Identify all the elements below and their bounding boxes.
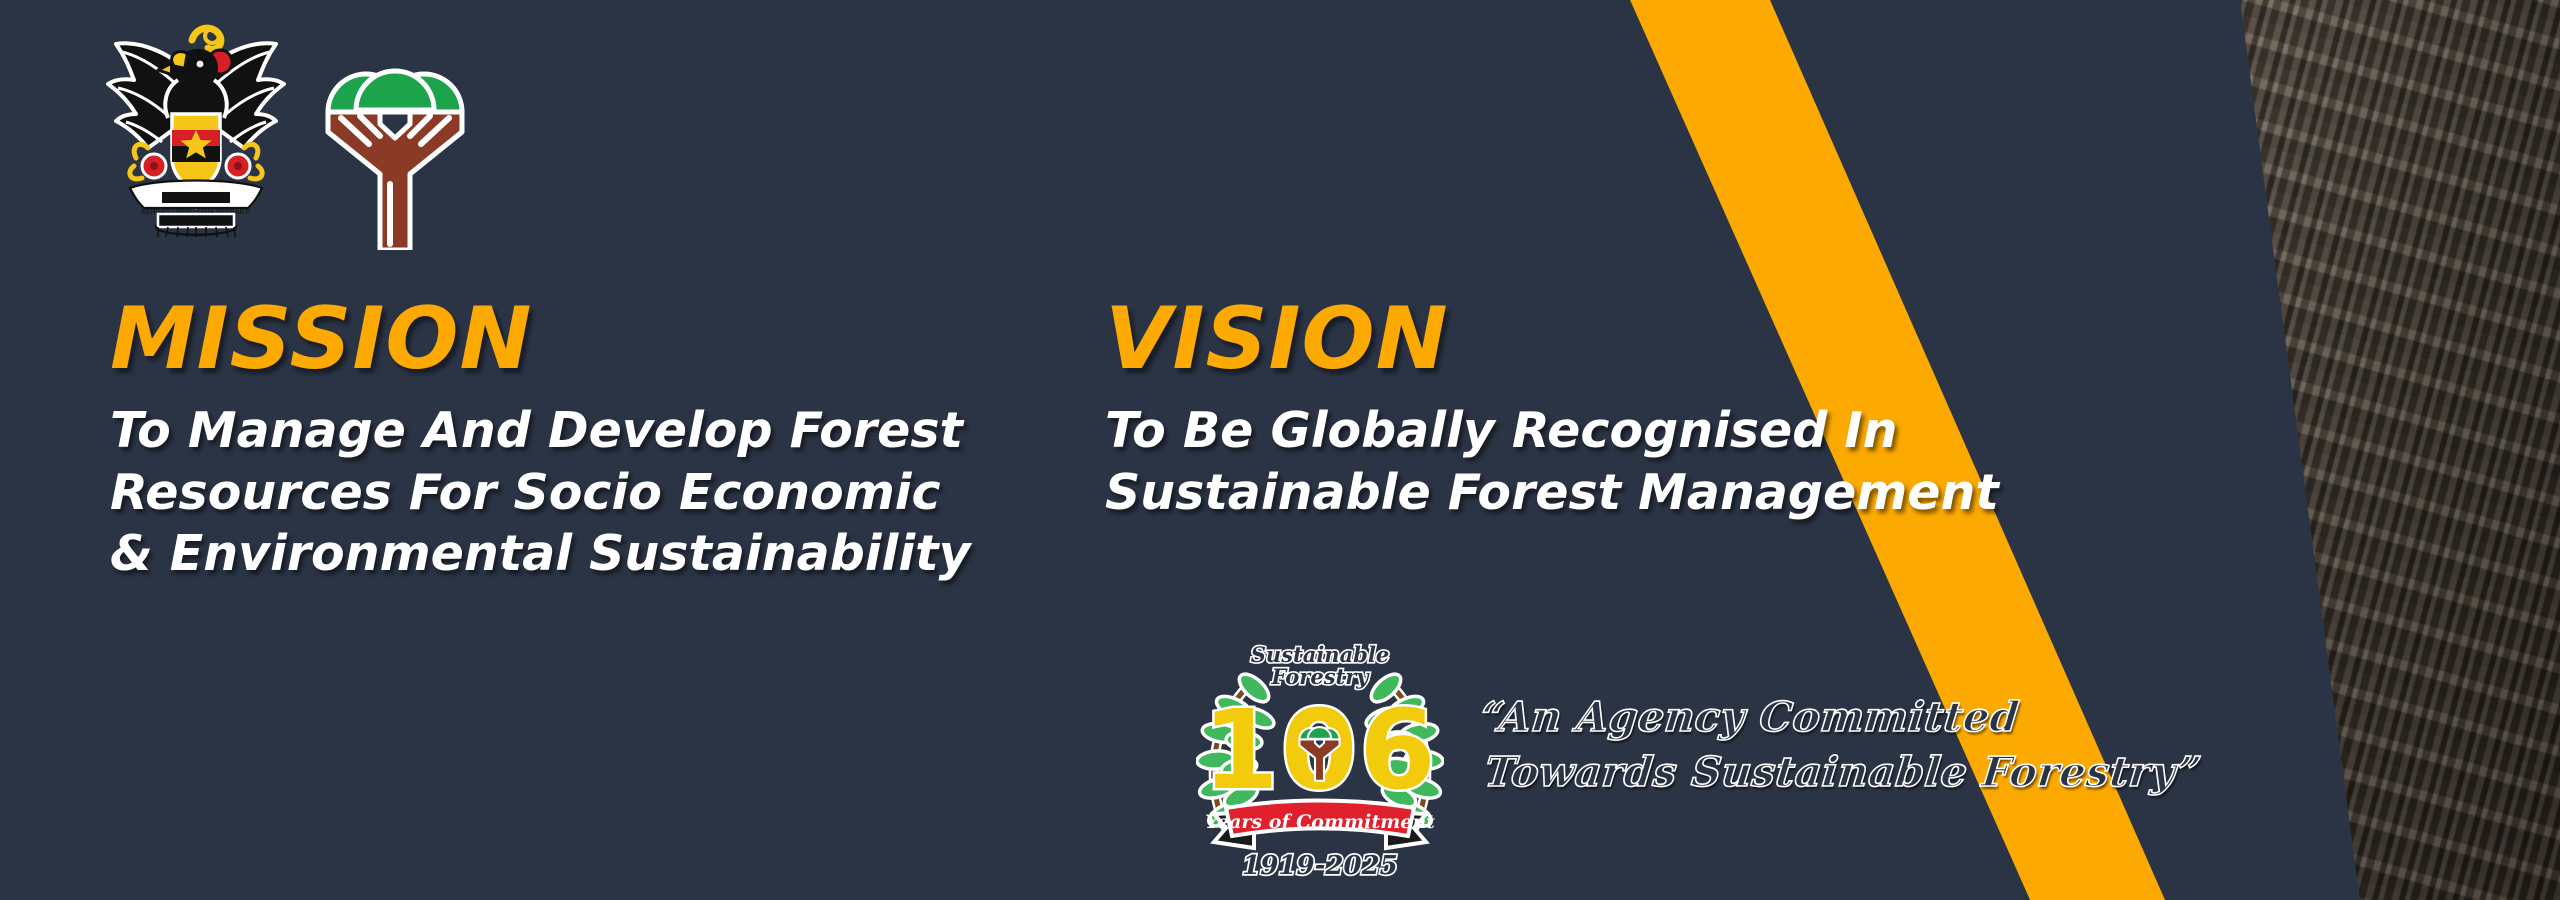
mission-line-1: To Manage And Develop Forest — [110, 400, 1010, 462]
anniversary-emblem: Sustainable Forestry 106 — [1196, 636, 1444, 888]
sarawak-coat-of-arms-icon: BERSATU BERUSAHA BERBAKTI — [96, 18, 296, 240]
vision-line-1: To Be Globally Recognised In — [1105, 400, 2105, 462]
mission-line-2: Resources For Socio Economic — [110, 462, 1010, 524]
emblem-years: 1919-2025 — [1242, 851, 1398, 881]
forest-department-tree-logo-icon — [320, 54, 470, 250]
mission-line-3: & Environmental Sustainability — [110, 523, 1010, 585]
emblem-ribbon-text: Years of Commitment — [1205, 811, 1435, 833]
mission-column: MISSION To Manage And Develop Forest Res… — [110, 296, 1010, 585]
tagline: “An Agency Committed Towards Sustainable… — [1472, 690, 2104, 800]
mission-heading: MISSION — [110, 296, 1010, 382]
logo-row: BERSATU BERUSAHA BERBAKTI — [96, 18, 470, 250]
vision-column: VISION To Be Globally Recognised In Sust… — [1105, 296, 2105, 523]
vision-heading: VISION — [1105, 296, 2105, 382]
mission-vision-banner: BERSATU BERUSAHA BERBAKTI — [0, 0, 2560, 900]
tagline-line-2: Towards Sustainable Forestry” — [1472, 745, 2098, 800]
tagline-line-1: “An Agency Committed — [1478, 690, 2104, 745]
banner-content: BERSATU BERUSAHA BERBAKTI — [0, 0, 2560, 900]
mission-body: To Manage And Develop Forest Resources F… — [110, 400, 1010, 585]
vision-body: To Be Globally Recognised In Sustainable… — [1105, 400, 2105, 523]
anniversary-emblem-icon: Sustainable Forestry 106 — [1196, 636, 1444, 888]
vision-line-2: Sustainable Forest Management — [1105, 462, 2105, 524]
